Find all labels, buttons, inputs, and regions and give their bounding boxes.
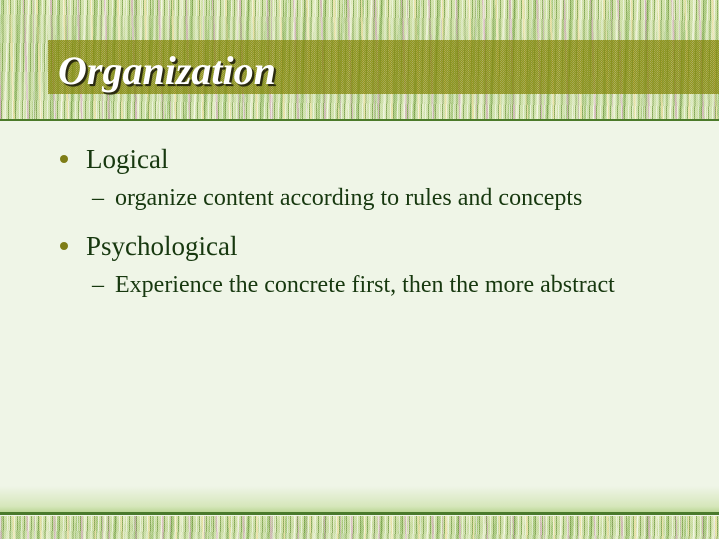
bullet-dot-icon	[60, 155, 68, 163]
footer-grass-texture	[0, 516, 719, 539]
bullet-label-psychological: Psychological	[86, 227, 719, 265]
footer-gradient	[0, 486, 719, 512]
en-dash-icon: –	[92, 182, 115, 215]
bullet-item-psychological[interactable]: Psychological	[0, 227, 719, 265]
footer-divider-rule	[0, 512, 719, 515]
en-dash-icon: –	[92, 269, 115, 302]
header-divider-rule	[0, 119, 719, 121]
bullet-label-logical: Logical	[86, 140, 719, 178]
bullet-dot-icon	[60, 242, 68, 250]
sub-bullet-item-logical[interactable]: – organize content according to rules an…	[0, 182, 719, 215]
sub-bullet-item-psychological[interactable]: – Experience the concrete first, then th…	[0, 269, 719, 302]
bullet-group-psychological: Psychological – Experience the concrete …	[0, 227, 719, 302]
sub-bullet-text-psychological: Experience the concrete first, then the …	[115, 269, 624, 302]
presentation-slide: Organization Logical – organize content …	[0, 0, 719, 539]
slide-title: Organization	[58, 46, 698, 98]
bullet-item-logical[interactable]: Logical	[0, 140, 719, 178]
bullet-group-logical: Logical – organize content according to …	[0, 140, 719, 215]
sub-bullet-text-logical: organize content according to rules and …	[115, 182, 624, 215]
slide-content: Logical – organize content according to …	[0, 140, 719, 314]
